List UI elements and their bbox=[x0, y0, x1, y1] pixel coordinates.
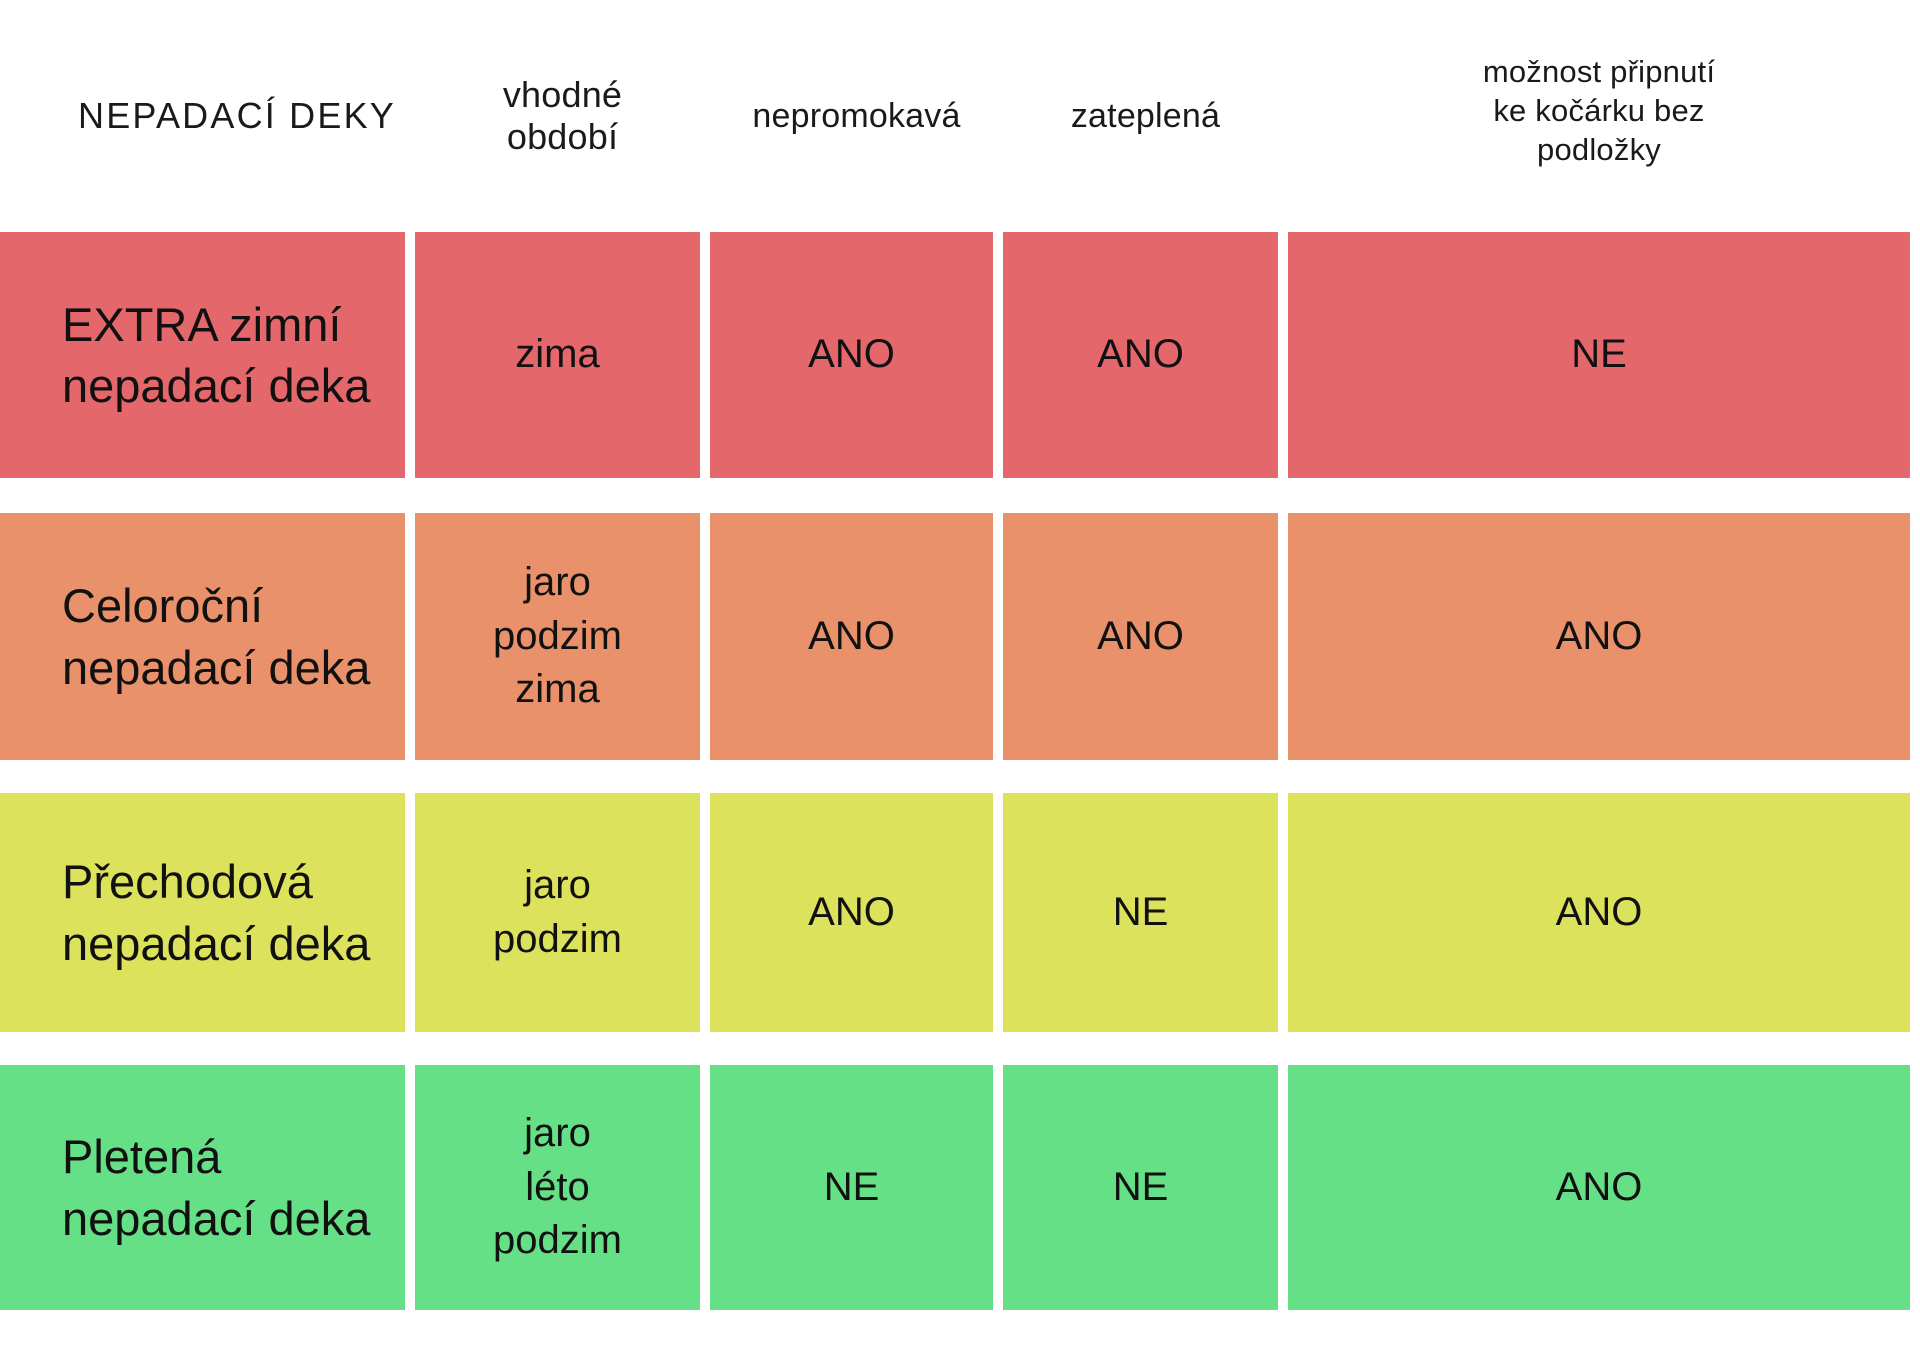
row-season-line-2: podzim bbox=[493, 610, 622, 664]
row-insulated-value: NE bbox=[1003, 1065, 1278, 1310]
row-season: zima bbox=[415, 232, 700, 478]
header-label-stroller-attach-line-1: možnost připnutí bbox=[1483, 52, 1715, 91]
table-row: Přechodová nepadací deka jaro podzim ANO… bbox=[0, 793, 1920, 1032]
row-product-name-line-1: Pletená bbox=[62, 1126, 370, 1187]
row-season-line-1: jaro bbox=[493, 859, 622, 913]
row-waterproof-value: ANO bbox=[710, 793, 993, 1032]
header-cell-season: vhodné období bbox=[415, 0, 710, 232]
header-label-stroller-attach: možnost připnutí ke kočárku bez podložky bbox=[1483, 52, 1715, 169]
row-waterproof-value: ANO bbox=[710, 513, 993, 760]
table-row: EXTRA zimní nepadací deka zima ANO ANO N… bbox=[0, 232, 1920, 478]
row-waterproof-value: NE bbox=[710, 1065, 993, 1310]
row-product-name-line-2: nepadací deka bbox=[62, 913, 370, 974]
header-cell-insulated: zateplená bbox=[1003, 0, 1288, 232]
row-stroller-attach-value: ANO bbox=[1288, 1065, 1910, 1310]
table-row: Pletená nepadací deka jaro léto podzim N… bbox=[0, 1065, 1920, 1310]
row-stroller-attach-value: NE bbox=[1288, 232, 1910, 478]
row-season-line-1: zima bbox=[515, 328, 599, 382]
header-label-season: vhodné období bbox=[503, 74, 622, 159]
table-header-row: NEPADACÍ DEKY vhodné období nepromokavá … bbox=[0, 0, 1920, 232]
header-label-season-line-1: vhodné bbox=[503, 74, 622, 116]
row-insulated-value: ANO bbox=[1003, 232, 1278, 478]
header-label-product: NEPADACÍ DEKY bbox=[78, 95, 396, 137]
row-season: jaro podzim bbox=[415, 793, 700, 1032]
row-product-name-line-1: Přechodová bbox=[62, 851, 370, 912]
row-product-name: Přechodová nepadací deka bbox=[0, 793, 405, 1032]
header-cell-stroller-attach: možnost připnutí ke kočárku bez podložky bbox=[1288, 0, 1910, 232]
header-cell-product: NEPADACÍ DEKY bbox=[0, 0, 415, 232]
row-insulated-value: NE bbox=[1003, 793, 1278, 1032]
nepadaci-deky-comparison-table: NEPADACÍ DEKY vhodné období nepromokavá … bbox=[0, 0, 1920, 1353]
row-product-name: Celoroční nepadací deka bbox=[0, 513, 405, 760]
header-label-season-line-2: období bbox=[503, 116, 622, 158]
row-waterproof-value: ANO bbox=[710, 232, 993, 478]
row-season-line-1: jaro bbox=[493, 1107, 622, 1161]
row-stroller-attach-value: ANO bbox=[1288, 793, 1910, 1032]
row-product-name-line-2: nepadací deka bbox=[62, 1188, 370, 1249]
row-season-line-3: zima bbox=[493, 663, 622, 717]
row-product-name: EXTRA zimní nepadací deka bbox=[0, 232, 405, 478]
header-label-insulated: zateplená bbox=[1071, 96, 1220, 136]
row-season-line-2: léto bbox=[493, 1161, 622, 1215]
header-label-stroller-attach-line-2: ke kočárku bez bbox=[1483, 91, 1715, 130]
row-product-name-line-1: EXTRA zimní bbox=[62, 294, 370, 355]
row-product-name: Pletená nepadací deka bbox=[0, 1065, 405, 1310]
row-stroller-attach-value: ANO bbox=[1288, 513, 1910, 760]
header-label-waterproof: nepromokavá bbox=[752, 96, 960, 136]
row-season: jaro léto podzim bbox=[415, 1065, 700, 1310]
table-row: Celoroční nepadací deka jaro podzim zima… bbox=[0, 513, 1920, 760]
row-season: jaro podzim zima bbox=[415, 513, 700, 760]
row-product-name-line-2: nepadací deka bbox=[62, 637, 370, 698]
row-product-name-line-2: nepadací deka bbox=[62, 355, 370, 416]
header-label-stroller-attach-line-3: podložky bbox=[1483, 130, 1715, 169]
row-season-line-3: podzim bbox=[493, 1214, 622, 1268]
row-season-line-1: jaro bbox=[493, 556, 622, 610]
header-cell-waterproof: nepromokavá bbox=[710, 0, 1003, 232]
row-product-name-line-1: Celoroční bbox=[62, 575, 370, 636]
row-season-line-2: podzim bbox=[493, 913, 622, 967]
row-insulated-value: ANO bbox=[1003, 513, 1278, 760]
